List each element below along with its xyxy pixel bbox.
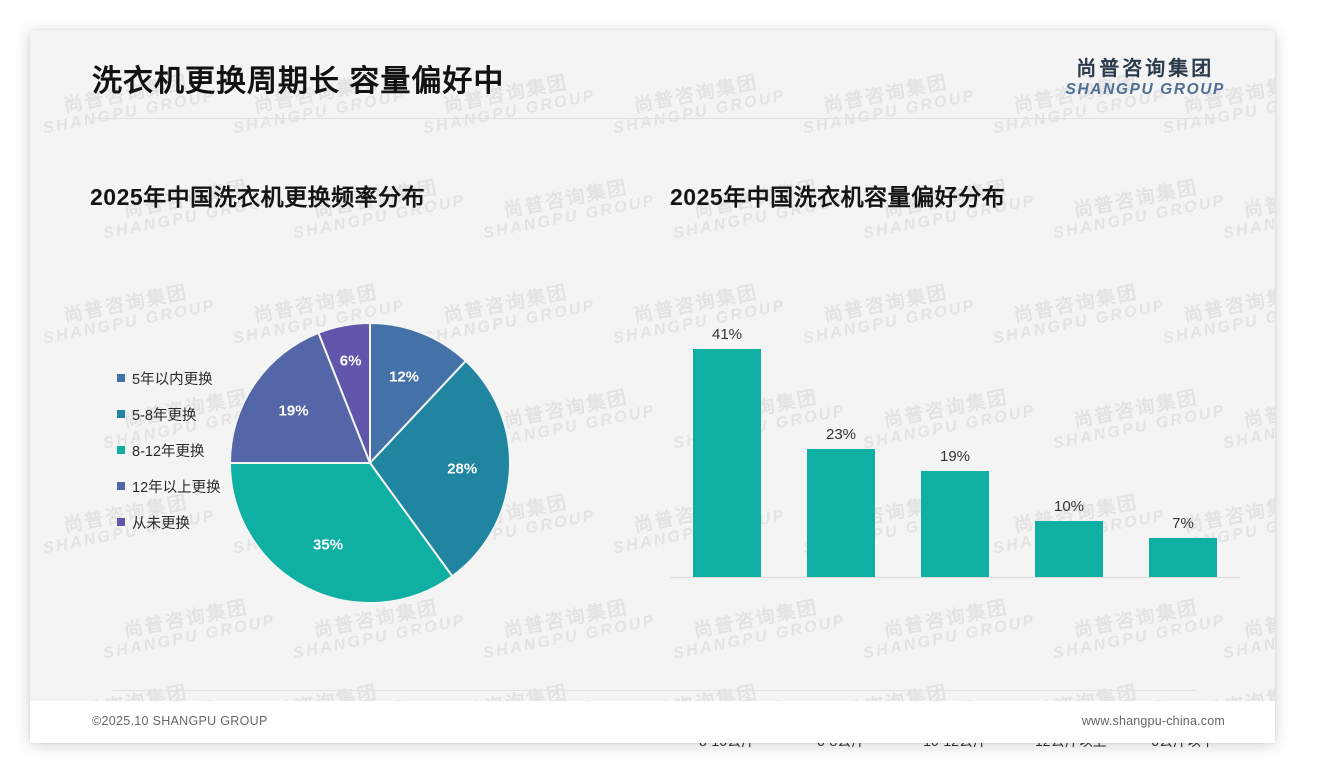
bar-plot-area: 41%8-10公斤23%6-8公斤19%10-12公斤10%12公斤以上7%6公… (670, 248, 1240, 578)
logo-english-text: SHANGPU GROUP (1066, 81, 1225, 100)
bar-rect[interactable] (921, 471, 989, 577)
legend-item-label: 从未更换 (132, 512, 190, 533)
pie-slice-value-label: 12% (389, 369, 419, 386)
legend-swatch-icon (117, 410, 125, 418)
bar-column[interactable]: 19%10-12公斤 (921, 327, 989, 577)
bar-column[interactable]: 10%12公斤以上 (1035, 327, 1103, 577)
bar-chart-title: 2025年中国洗衣机容量偏好分布 (670, 178, 1240, 212)
bar-value-label: 41% (712, 326, 742, 343)
bar-rect[interactable] (1149, 538, 1217, 577)
legend-swatch-icon (117, 518, 125, 526)
legend-item-label: 12年以上更换 (132, 476, 221, 497)
brand-logo: 尚普咨询集团 SHANGPU GROUP (1066, 58, 1225, 100)
footnote-divider (112, 690, 1197, 691)
bar-value-label: 19% (940, 448, 970, 465)
legend-item-label: 5-8年更换 (132, 404, 196, 425)
bar-value-label: 10% (1054, 498, 1084, 515)
bar-value-label: 23% (826, 426, 856, 443)
legend-item[interactable]: 8-12年更换 (117, 432, 221, 468)
legend-item[interactable]: 从未更换 (117, 504, 221, 540)
legend-swatch-icon (117, 374, 125, 382)
pie-slice-value-label: 19% (279, 403, 309, 420)
pie-chart-graphic: 12%28%35%19%6% (225, 318, 515, 608)
legend-item[interactable]: 5年以内更换 (117, 360, 221, 396)
bar-column[interactable]: 41%8-10公斤 (693, 327, 761, 577)
bar-rect[interactable] (693, 349, 761, 577)
slide-canvas: 尚普咨询集团SHANGPU GROUP尚普咨询集团SHANGPU GROUP尚普… (30, 30, 1275, 743)
bar-rect[interactable] (1035, 521, 1103, 577)
pie-chart-title: 2025年中国洗衣机更换频率分布 (90, 178, 650, 212)
pie-slice-value-label: 6% (340, 353, 362, 370)
header-divider (92, 118, 1217, 119)
slide-header: 洗衣机更换周期长 容量偏好中 尚普咨询集团 SHANGPU GROUP (30, 30, 1275, 118)
page-title: 洗衣机更换周期长 容量偏好中 (92, 56, 504, 100)
legend-swatch-icon (117, 482, 125, 490)
legend-item[interactable]: 5-8年更换 (117, 396, 221, 432)
bar-axis-line (670, 577, 1240, 578)
bar-rect[interactable] (807, 449, 875, 577)
footer-copyright: ©2025.10 SHANGPU GROUP (92, 714, 268, 728)
legend-item-label: 5年以内更换 (132, 368, 213, 389)
pie-legend: 5年以内更换5-8年更换8-12年更换12年以上更换从未更换 (117, 360, 221, 540)
legend-swatch-icon (117, 446, 125, 454)
pie-slice-value-label: 35% (313, 537, 343, 554)
bar-chart-panel: 2025年中国洗衣机容量偏好分布 41%8-10公斤23%6-8公斤19%10-… (670, 178, 1240, 648)
bar-column[interactable]: 7%6公斤以下 (1149, 327, 1217, 577)
pie-chart-panel: 2025年中国洗衣机更换频率分布 5年以内更换5-8年更换8-12年更换12年以… (90, 178, 650, 648)
legend-item-label: 8-12年更换 (132, 440, 205, 461)
pie-slice-value-label: 28% (447, 460, 477, 477)
logo-chinese-text: 尚普咨询集团 (1066, 58, 1225, 81)
bar-value-label: 7% (1172, 515, 1194, 532)
legend-item[interactable]: 12年以上更换 (117, 468, 221, 504)
bar-column[interactable]: 23%6-8公斤 (807, 327, 875, 577)
footer-website[interactable]: www.shangpu-china.com (1082, 714, 1225, 728)
slide-footer: ©2025.10 SHANGPU GROUP www.shangpu-china… (30, 701, 1275, 743)
